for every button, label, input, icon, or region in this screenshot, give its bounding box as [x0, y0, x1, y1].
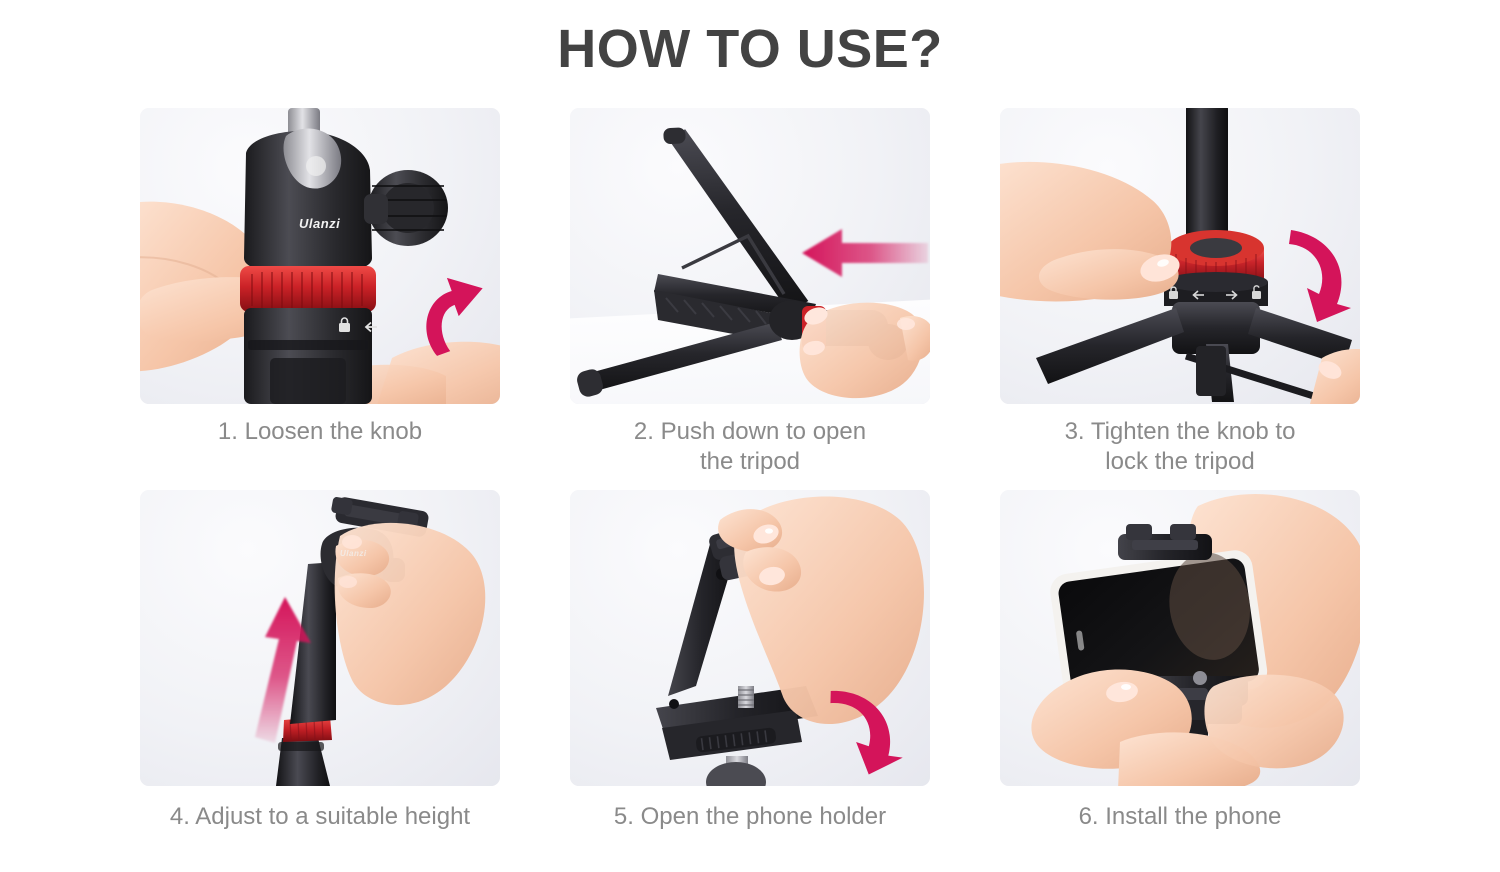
step-card-5: 5. Open the phone holder	[570, 490, 930, 832]
step-photo-4: Ulanzi	[140, 490, 500, 786]
brand-logo-text: Ulanzi	[340, 549, 367, 558]
page-title: HOW TO USE?	[0, 18, 1500, 80]
lock-indicator-band	[1164, 282, 1268, 306]
caption-line: 2. Push down to open	[570, 417, 930, 447]
step-caption-1: 1. Loosen the knob	[140, 417, 500, 447]
tripod-opening-illustration	[570, 108, 930, 404]
tripod-lock-illustration	[1000, 108, 1360, 404]
lock-closed-icon	[337, 316, 397, 334]
brand-logo-text: Ulanzi	[299, 216, 340, 231]
step-card-1: Ulanzi 1. Loosen the	[140, 108, 500, 447]
tripod-ball-head	[140, 108, 500, 404]
caption-line: 5. Open the phone holder	[570, 802, 930, 832]
step-card-6: 6. Install the phone	[1000, 490, 1360, 832]
step-photo-1: Ulanzi	[140, 108, 500, 404]
steps-row-top: Ulanzi 1. Loosen the	[140, 108, 1360, 490]
arrow-left-icon	[1194, 291, 1205, 299]
step-photo-2	[570, 108, 930, 404]
arrow-left-icon	[366, 323, 377, 332]
caption-line: 4. Adjust to a suitable height	[140, 802, 500, 832]
steps-grid: Ulanzi 1. Loosen the	[140, 108, 1360, 838]
step-card-2: 2. Push down to open the tripod	[570, 108, 930, 477]
caption-line: 3. Tighten the knob to	[1000, 417, 1360, 447]
caption-line: lock the tripod	[1000, 447, 1360, 477]
step-card-4: Ulanzi 4. Adjust t	[140, 490, 500, 832]
phone-holder-open-illustration	[570, 490, 930, 786]
caption-line: 6. Install the phone	[1000, 802, 1360, 832]
step-card-3: 3. Tighten the knob to lock the tripod	[1000, 108, 1360, 477]
lock-open-icon	[1252, 286, 1261, 299]
install-phone-illustration	[1000, 490, 1360, 786]
arrow-right-icon	[1226, 291, 1237, 299]
steps-row-bottom: Ulanzi 4. Adjust t	[140, 490, 1360, 872]
how-to-use-page: HOW TO USE?	[0, 0, 1500, 850]
step-caption-6: 6. Install the phone	[1000, 802, 1360, 832]
step-caption-3: 3. Tighten the knob to lock the tripod	[1000, 417, 1360, 477]
caption-line: the tripod	[570, 447, 930, 477]
step-photo-6	[1000, 490, 1360, 786]
step-caption-4: 4. Adjust to a suitable height	[140, 802, 500, 832]
step-caption-2: 2. Push down to open the tripod	[570, 417, 930, 477]
step-photo-5	[570, 490, 930, 786]
lock-closed-icon	[1169, 287, 1178, 299]
caption-line: 1. Loosen the knob	[140, 417, 500, 447]
step-photo-3	[1000, 108, 1360, 404]
extend-column-illustration	[140, 490, 500, 786]
step-caption-5: 5. Open the phone holder	[570, 802, 930, 832]
